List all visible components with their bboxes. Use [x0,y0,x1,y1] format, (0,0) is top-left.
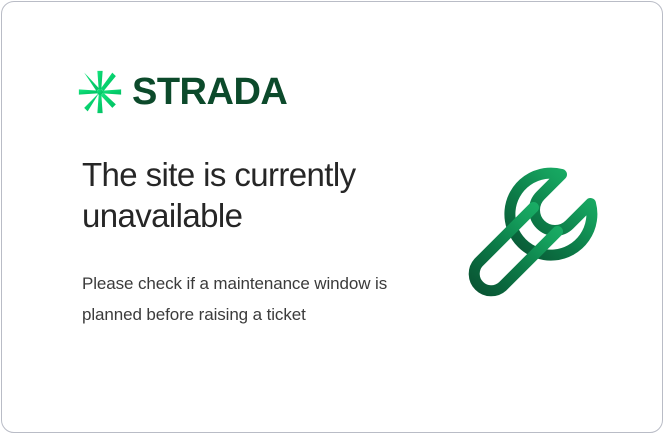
page-title: The site is currently unavailable [82,154,422,236]
brand-logo: STRADA [78,70,287,114]
brand-wordmark: STRADA [132,73,287,111]
status-description: Please check if a maintenance window is … [82,268,394,330]
wrench-icon [457,154,617,314]
status-card: STRADA The site is currently unavailable… [1,1,663,433]
strada-asterisk-mark-icon [78,70,122,114]
